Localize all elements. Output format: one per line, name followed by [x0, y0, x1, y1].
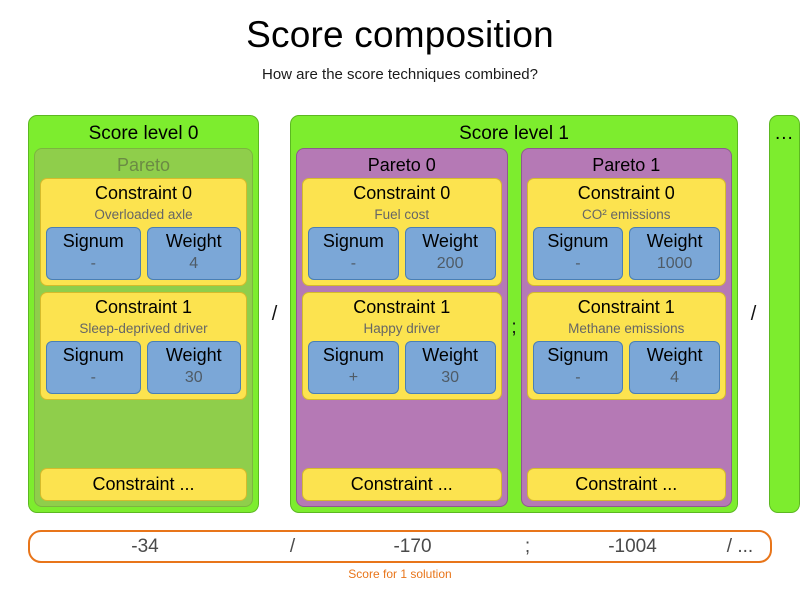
signum-value: - [49, 367, 138, 389]
constraint-description: Methane emissions [568, 319, 684, 338]
page-subtitle: How are the score techniques combined? [0, 66, 800, 83]
flex-spacer [302, 406, 502, 468]
signum-box[interactable]: Signum - [533, 341, 624, 394]
score-separator-0: / [260, 536, 325, 558]
level-separator-0: / [259, 115, 290, 513]
weight-box[interactable]: Weight 30 [147, 341, 242, 394]
pareto-group-level0-0-title: Pareto [40, 152, 247, 178]
constraint-more-label: Constraint ... [351, 470, 453, 498]
score-value-pareto-1: -1004 [555, 536, 710, 558]
weight-value: 1000 [632, 253, 717, 275]
weight-label: Weight [408, 343, 493, 367]
weight-value: 30 [150, 367, 239, 389]
constraint-title: Constraint 0 [95, 181, 192, 205]
signum-box[interactable]: Signum - [46, 227, 141, 280]
score-caption: Score for 1 solution [28, 567, 772, 581]
weight-label: Weight [632, 343, 717, 367]
score-level-more-title: ... [775, 120, 794, 148]
signum-label: Signum [311, 343, 396, 367]
signum-box[interactable]: Signum - [308, 227, 399, 280]
weight-box[interactable]: Weight 1000 [629, 227, 720, 280]
flex-spacer [527, 406, 727, 468]
score-separator-2: / ... [710, 536, 770, 558]
score-bar[interactable]: -34 / -170 ; -1004 / ... [28, 530, 772, 563]
score-value-level-0: -34 [30, 536, 260, 558]
score-composition-diagram: Score level 0 Pareto Constraint 0 Overlo… [0, 115, 800, 513]
weight-box[interactable]: Weight 4 [147, 227, 242, 280]
flex-spacer [40, 406, 247, 468]
constraint-more-card[interactable]: Constraint ... [527, 468, 727, 501]
pareto-group-level1-0[interactable]: Pareto 0 Constraint 0 Fuel cost Signum -… [296, 148, 508, 507]
constraint-title: Constraint 0 [578, 181, 675, 205]
signum-label: Signum [536, 343, 621, 367]
weight-value: 4 [150, 253, 239, 275]
weight-value: 4 [632, 367, 717, 389]
score-value-pareto-0: -170 [325, 536, 500, 558]
weight-label: Weight [408, 229, 493, 253]
signum-label: Signum [311, 229, 396, 253]
constraint-description: Fuel cost [374, 205, 429, 224]
score-level-1-pareto-row: Pareto 0 Constraint 0 Fuel cost Signum -… [296, 148, 732, 507]
page-title: Score composition [0, 14, 800, 57]
constraint-title: Constraint 1 [353, 295, 450, 319]
constraint-title: Constraint 0 [353, 181, 450, 205]
signum-label: Signum [49, 229, 138, 253]
constraint-card[interactable]: Constraint 0 CO² emissions Signum - Weig… [527, 178, 727, 286]
constraint-description: Sleep-deprived driver [79, 319, 207, 338]
constraint-more-label: Constraint ... [92, 470, 194, 498]
weight-box[interactable]: Weight 30 [405, 341, 496, 394]
signum-value: - [536, 253, 621, 275]
weight-label: Weight [150, 229, 239, 253]
signum-box[interactable]: Signum - [46, 341, 141, 394]
constraint-terms: Signum - Weight 4 [533, 341, 721, 394]
score-level-0-pareto-row: Pareto Constraint 0 Overloaded axle Sign… [34, 148, 253, 507]
weight-box[interactable]: Weight 200 [405, 227, 496, 280]
constraint-card[interactable]: Constraint 1 Happy driver Signum + Weigh… [302, 292, 502, 400]
constraint-terms: Signum - Weight 30 [46, 341, 241, 394]
constraint-description: CO² emissions [582, 205, 671, 224]
pareto-group-level1-1[interactable]: Pareto 1 Constraint 0 CO² emissions Sign… [521, 148, 733, 507]
constraint-title: Constraint 1 [578, 295, 675, 319]
signum-label: Signum [536, 229, 621, 253]
constraint-description: Overloaded axle [94, 205, 192, 224]
constraint-terms: Signum - Weight 200 [308, 227, 496, 280]
score-level-1-panel[interactable]: Score level 1 Pareto 0 Constraint 0 Fuel… [290, 115, 738, 513]
score-level-0-panel[interactable]: Score level 0 Pareto Constraint 0 Overlo… [28, 115, 259, 513]
signum-label: Signum [49, 343, 138, 367]
level-separator-1: / [738, 115, 769, 513]
constraint-card[interactable]: Constraint 0 Overloaded axle Signum - We… [40, 178, 247, 286]
weight-value: 200 [408, 253, 493, 275]
score-separator-1: ; [500, 536, 555, 558]
constraint-description: Happy driver [363, 319, 440, 338]
constraint-more-card[interactable]: Constraint ... [302, 468, 502, 501]
constraint-terms: Signum - Weight 1000 [533, 227, 721, 280]
weight-label: Weight [150, 343, 239, 367]
score-summary: -34 / -170 ; -1004 / ... Score for 1 sol… [28, 530, 772, 581]
pareto-group-level1-0-title: Pareto 0 [302, 152, 502, 178]
weight-box[interactable]: Weight 4 [629, 341, 720, 394]
constraint-card[interactable]: Constraint 0 Fuel cost Signum - Weight 2… [302, 178, 502, 286]
signum-value: - [536, 367, 621, 389]
weight-label: Weight [632, 229, 717, 253]
pareto-group-level0-0[interactable]: Pareto Constraint 0 Overloaded axle Sign… [34, 148, 253, 507]
constraint-more-card[interactable]: Constraint ... [40, 468, 247, 501]
signum-value: + [311, 367, 396, 389]
constraint-terms: Signum + Weight 30 [308, 341, 496, 394]
signum-box[interactable]: Signum - [533, 227, 624, 280]
constraint-title: Constraint 1 [95, 295, 192, 319]
signum-value: - [49, 253, 138, 275]
page-header: Score composition How are the score tech… [0, 0, 800, 83]
signum-value: - [311, 253, 396, 275]
weight-value: 30 [408, 367, 493, 389]
left-spacer [0, 115, 28, 513]
score-level-more-panel[interactable]: ... [769, 115, 800, 513]
score-level-0-title: Score level 0 [34, 120, 253, 148]
signum-box[interactable]: Signum + [308, 341, 399, 394]
constraint-more-label: Constraint ... [575, 470, 677, 498]
pareto-group-level1-1-title: Pareto 1 [527, 152, 727, 178]
score-level-1-title: Score level 1 [296, 120, 732, 148]
constraint-card[interactable]: Constraint 1 Methane emissions Signum - … [527, 292, 727, 400]
constraint-terms: Signum - Weight 4 [46, 227, 241, 280]
constraint-card[interactable]: Constraint 1 Sleep-deprived driver Signu… [40, 292, 247, 400]
pareto-separator: ; [508, 148, 521, 507]
